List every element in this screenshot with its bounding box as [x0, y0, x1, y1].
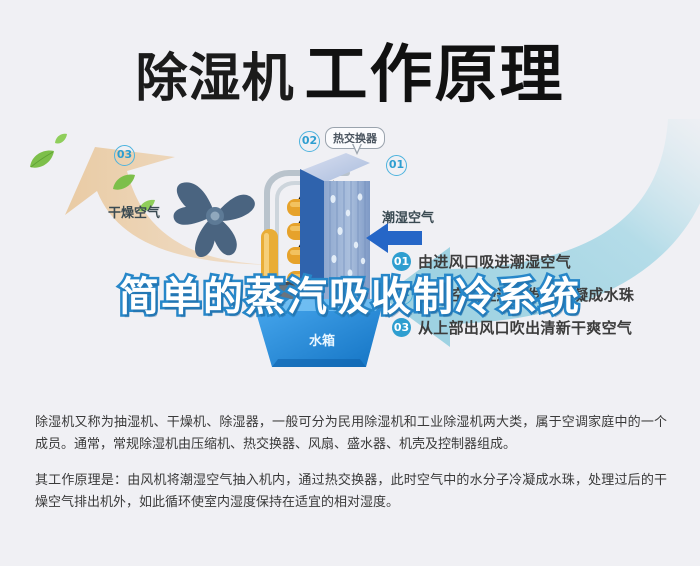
poster-canvas: 除湿机工作原理 — [0, 0, 700, 566]
page-title-part1: 除湿机 — [135, 49, 294, 109]
leaf-icon — [54, 133, 68, 145]
paragraph-2: 其工作原理是：由风机将潮湿空气抽入机内，通过热交换器，此时空气中的水分子冷凝成水… — [35, 470, 667, 514]
overlay-headline: 简单的蒸汽吸收制冷系统 — [0, 264, 700, 322]
leaf-icon — [112, 173, 136, 192]
bubble-pointer-icon — [352, 144, 362, 155]
body-copy: 除湿机又称为抽湿机、干燥机、除湿器，一般可分为民用除湿机和工业除湿机两大类，属于… — [35, 412, 667, 528]
callout-label-humid-air: 潮湿空气 — [382, 207, 434, 226]
callout-badge-03: 03 — [114, 145, 135, 166]
leaf-icon — [28, 149, 56, 171]
page-title-part2: 工作原理 — [305, 38, 565, 111]
page-title: 除湿机工作原理 — [0, 24, 700, 115]
tank-label: 水箱 — [309, 333, 335, 349]
paragraph-1: 除湿机又称为抽湿机、干燥机、除湿器，一般可分为民用除湿机和工业除湿机两大类，属于… — [35, 412, 667, 456]
callout-label-dry-air: 干燥空气 — [108, 202, 160, 221]
callout-badge-02: 02 — [299, 131, 320, 152]
callout-badge-01: 01 — [386, 155, 407, 176]
